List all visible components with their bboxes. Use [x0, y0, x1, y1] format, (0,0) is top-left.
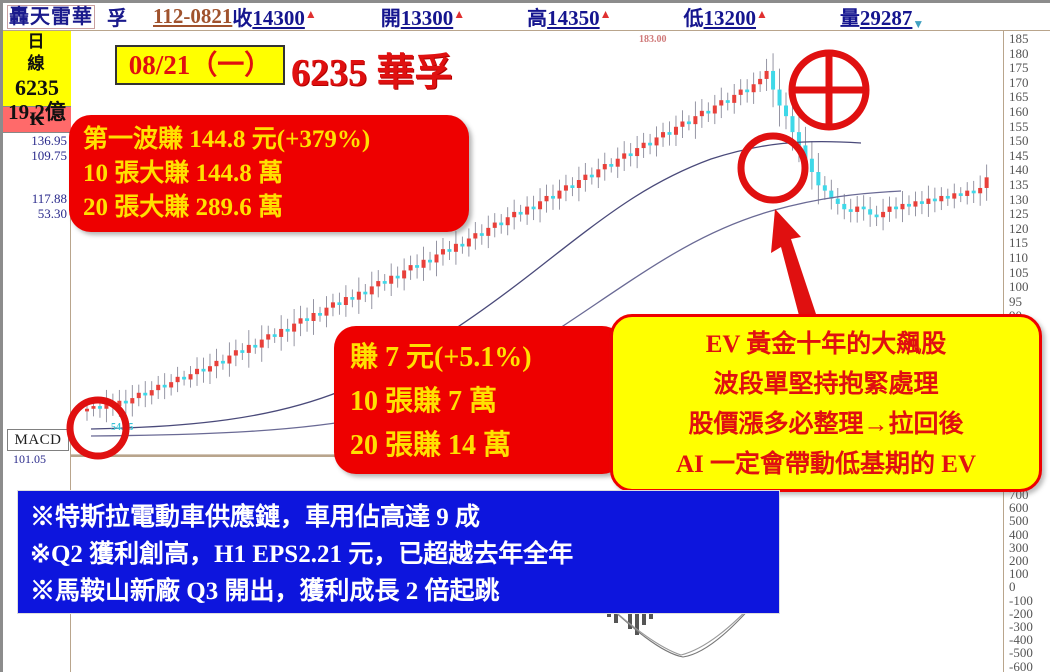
volume-tick: -600 [1009, 661, 1033, 672]
price-tick: 165 [1009, 91, 1029, 102]
arrow-up-icon: ▲ [305, 7, 317, 22]
period-label: 日 線 [3, 31, 71, 75]
volume-tick: -500 [1009, 647, 1033, 658]
price-tick: 150 [1009, 135, 1029, 146]
volume-tick: -400 [1009, 634, 1033, 645]
page-title: 6235 華孚 [291, 41, 453, 96]
volume-tick: 500 [1009, 515, 1029, 526]
quote-field-close: 收 14300 ▲ [232, 2, 316, 31]
quote-label-open: 開 [381, 2, 401, 31]
outlook-line-3: 股價漲多必整理→拉回後 [613, 405, 1039, 445]
outlook-line-1: EV 黃金十年的大飆股 [613, 325, 1039, 365]
price-tick: 185 [1009, 33, 1029, 44]
fundamentals-line-1: ※特斯拉電動車供應鏈，車用佔高達 9 成 [30, 499, 779, 536]
ma-value-3: 117.88 [3, 191, 70, 206]
price-tick: 110 [1009, 252, 1028, 263]
period-box[interactable]: 日 線 6235 19.2億 [3, 31, 71, 107]
quote-field-volume: 量 29287 ▼ [840, 2, 924, 31]
ma-value-2: 109.75 [3, 148, 70, 163]
date-badge: 08/21（一） [115, 45, 285, 85]
macd-indicator-value: 101.05 [13, 452, 46, 467]
quote-bar: 轟天雷華 孚 112-0821 收 14300 ▲ 開 13300 ▲ 高 14… [3, 3, 1050, 31]
quote-field-low: 低 13200 ▲ [684, 2, 768, 31]
price-axis: 1851801751701651601551501451401351301251… [1003, 31, 1050, 351]
arrow-up-icon: ▲ [453, 7, 465, 22]
outlook-line-4: AI 一定會帶動低基期的 EV [613, 445, 1039, 485]
wave1-line-2: 10 張大賺 144.8 萬 [83, 157, 469, 191]
price-tick: 100 [1009, 281, 1029, 292]
volume-tick: 600 [1009, 502, 1029, 513]
fundamentals-line-3: ※馬鞍山新廠 Q3 開出，獲利成長 2 倍起跳 [30, 573, 779, 610]
price-tick: 95 [1009, 296, 1022, 307]
arrow-up-icon: ▲ [756, 7, 768, 22]
annotation-box-wave2: 賺 7 元(+5.1%) 10 張賺 7 萬 20 張賺 14 萬 [334, 326, 624, 474]
arrow-down-icon: ▼ [912, 17, 924, 32]
quote-value-open: 13300 [401, 6, 454, 31]
swing-high-label: 183.00 [639, 34, 667, 45]
callout-arrow-icon [767, 203, 823, 323]
price-tick: 160 [1009, 106, 1029, 117]
quote-date: 112-0821 [153, 4, 232, 29]
price-tick: 155 [1009, 121, 1029, 132]
volume-tick: 100 [1009, 568, 1029, 579]
volume-tick: 300 [1009, 542, 1029, 553]
wave2-line-2: 10 張賺 7 萬 [350, 380, 624, 424]
volume-tick: -100 [1009, 595, 1033, 606]
ma-spacer [3, 163, 70, 191]
wave2-line-3: 20 張賺 14 萬 [350, 424, 624, 468]
quote-value-low: 13200 [704, 6, 757, 31]
price-tick: 115 [1009, 237, 1028, 248]
volume-tick: 400 [1009, 529, 1029, 540]
price-tick: 130 [1009, 194, 1029, 205]
stock-chart-screenshot: 轟天雷華 孚 112-0821 收 14300 ▲ 開 13300 ▲ 高 14… [0, 0, 1050, 672]
price-tick: 170 [1009, 77, 1029, 88]
outlook-line-2: 波段單堅持抱緊處理 [613, 365, 1039, 405]
fundamentals-line-2: ※Q2 獲利創高，H1 EPS2.21 元，已超越去年全年 [30, 536, 779, 573]
macd-indicator-label[interactable]: MACD [7, 429, 69, 451]
quote-label-high: 高 [527, 2, 547, 31]
price-tick: 125 [1009, 208, 1029, 219]
broker-name: 轟天雷華 [7, 5, 95, 29]
volume-tick: -300 [1009, 621, 1033, 632]
price-tick: 120 [1009, 223, 1029, 234]
annotation-box-fundamentals: ※特斯拉電動車供應鏈，車用佔高達 9 成 ※Q2 獲利創高，H1 EPS2.21… [17, 490, 780, 614]
price-tick: 145 [1009, 150, 1029, 161]
quote-value-high: 14350 [547, 6, 600, 31]
quote-value-close: 14300 [252, 6, 305, 31]
price-tick: 135 [1009, 179, 1029, 190]
highlight-circle-recent [736, 131, 810, 205]
volume-tick: 0 [1009, 581, 1016, 592]
quote-label-close: 收 [232, 2, 252, 31]
stock-short-name: 孚 [107, 2, 127, 31]
volume-tick: -200 [1009, 608, 1033, 619]
arrow-up-icon: ▲ [600, 7, 612, 22]
annotation-box-wave1: 第一波賺 144.8 元(+379%) 10 張大賺 144.8 萬 20 張大… [69, 115, 469, 232]
quote-field-open: 開 13300 ▲ [381, 2, 465, 31]
annotation-box-outlook: EV 黃金十年的大飆股 波段單堅持抱緊處理 股價漲多必整理→拉回後 AI 一定會… [610, 314, 1042, 492]
ma-value-4: 53.30 [3, 206, 70, 221]
ma-value-1: 136.95 [3, 133, 70, 148]
wave1-line-3: 20 張大賺 289.6 萬 [83, 191, 469, 225]
highlight-circle-entry [65, 395, 131, 461]
quote-label-low: 低 [684, 2, 704, 31]
stock-code: 6235 [3, 75, 71, 100]
price-tick: 175 [1009, 62, 1029, 73]
quote-value-volume: 29287 [860, 6, 913, 31]
volume-axis: 7006005004003002001000-100-200-300-400-5… [1003, 483, 1050, 672]
crosshair-target-icon [787, 48, 871, 132]
price-tick: 105 [1009, 267, 1029, 278]
price-tick: 180 [1009, 48, 1029, 59]
price-tick: 140 [1009, 164, 1029, 175]
wave2-line-1: 賺 7 元(+5.1%) [350, 336, 624, 380]
quote-label-volume: 量 [840, 2, 860, 31]
quote-field-high: 高 14350 ▲ [527, 2, 611, 31]
volume-tick: 200 [1009, 555, 1029, 566]
wave1-line-1: 第一波賺 144.8 元(+379%) [83, 123, 469, 157]
